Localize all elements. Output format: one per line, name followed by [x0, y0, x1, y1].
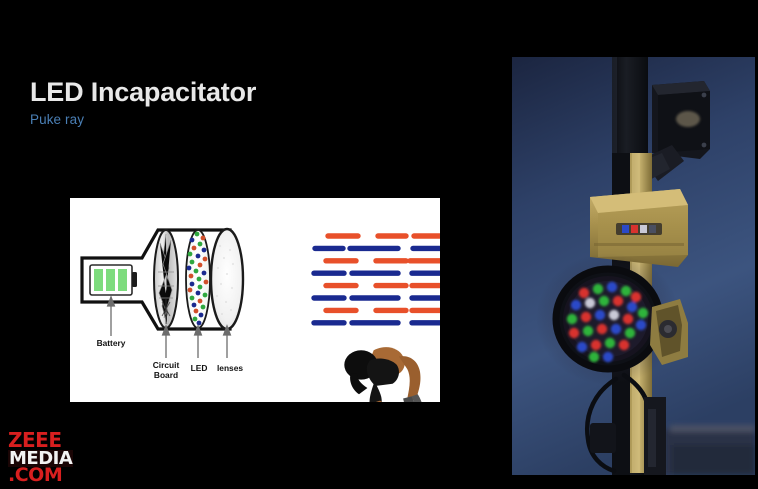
cable-clamp [590, 423, 616, 453]
lens-component [211, 229, 243, 329]
label-battery: Battery [97, 338, 126, 348]
slide-canvas: LED Incapacitator Puke ray [0, 0, 758, 489]
label-led: LED [191, 363, 208, 373]
watermark-com-text: .COM [8, 464, 62, 484]
label-circuit-board-line2: Board [154, 370, 178, 380]
circuit-board-component [154, 230, 178, 328]
title-block: LED Incapacitator Puke ray [30, 78, 470, 127]
diagram-svg: Battery Circuit Board LED lenses [70, 198, 440, 402]
page-title: LED Incapacitator [30, 78, 470, 106]
building-silhouette [664, 425, 755, 475]
photo-svg [512, 57, 755, 475]
battery-component [90, 265, 137, 295]
led-incapacitator-cutaway-diagram: Battery Circuit Board LED lenses [70, 198, 440, 402]
pole-mounted-led-incapacitator-photo [512, 57, 755, 475]
rgb-led-array-head [556, 269, 660, 369]
watermark-line-3: .COM [8, 467, 94, 484]
zeee-media-watermark: ZEEE MEDIA .COM [8, 432, 94, 484]
label-lenses: lenses [217, 363, 243, 373]
led-array-component [186, 230, 210, 328]
upper-equipment-box [652, 81, 710, 159]
page-subtitle: Puke ray [30, 112, 470, 127]
label-circuit-board-line1: Circuit [153, 360, 180, 370]
lower-fixture [644, 397, 666, 475]
